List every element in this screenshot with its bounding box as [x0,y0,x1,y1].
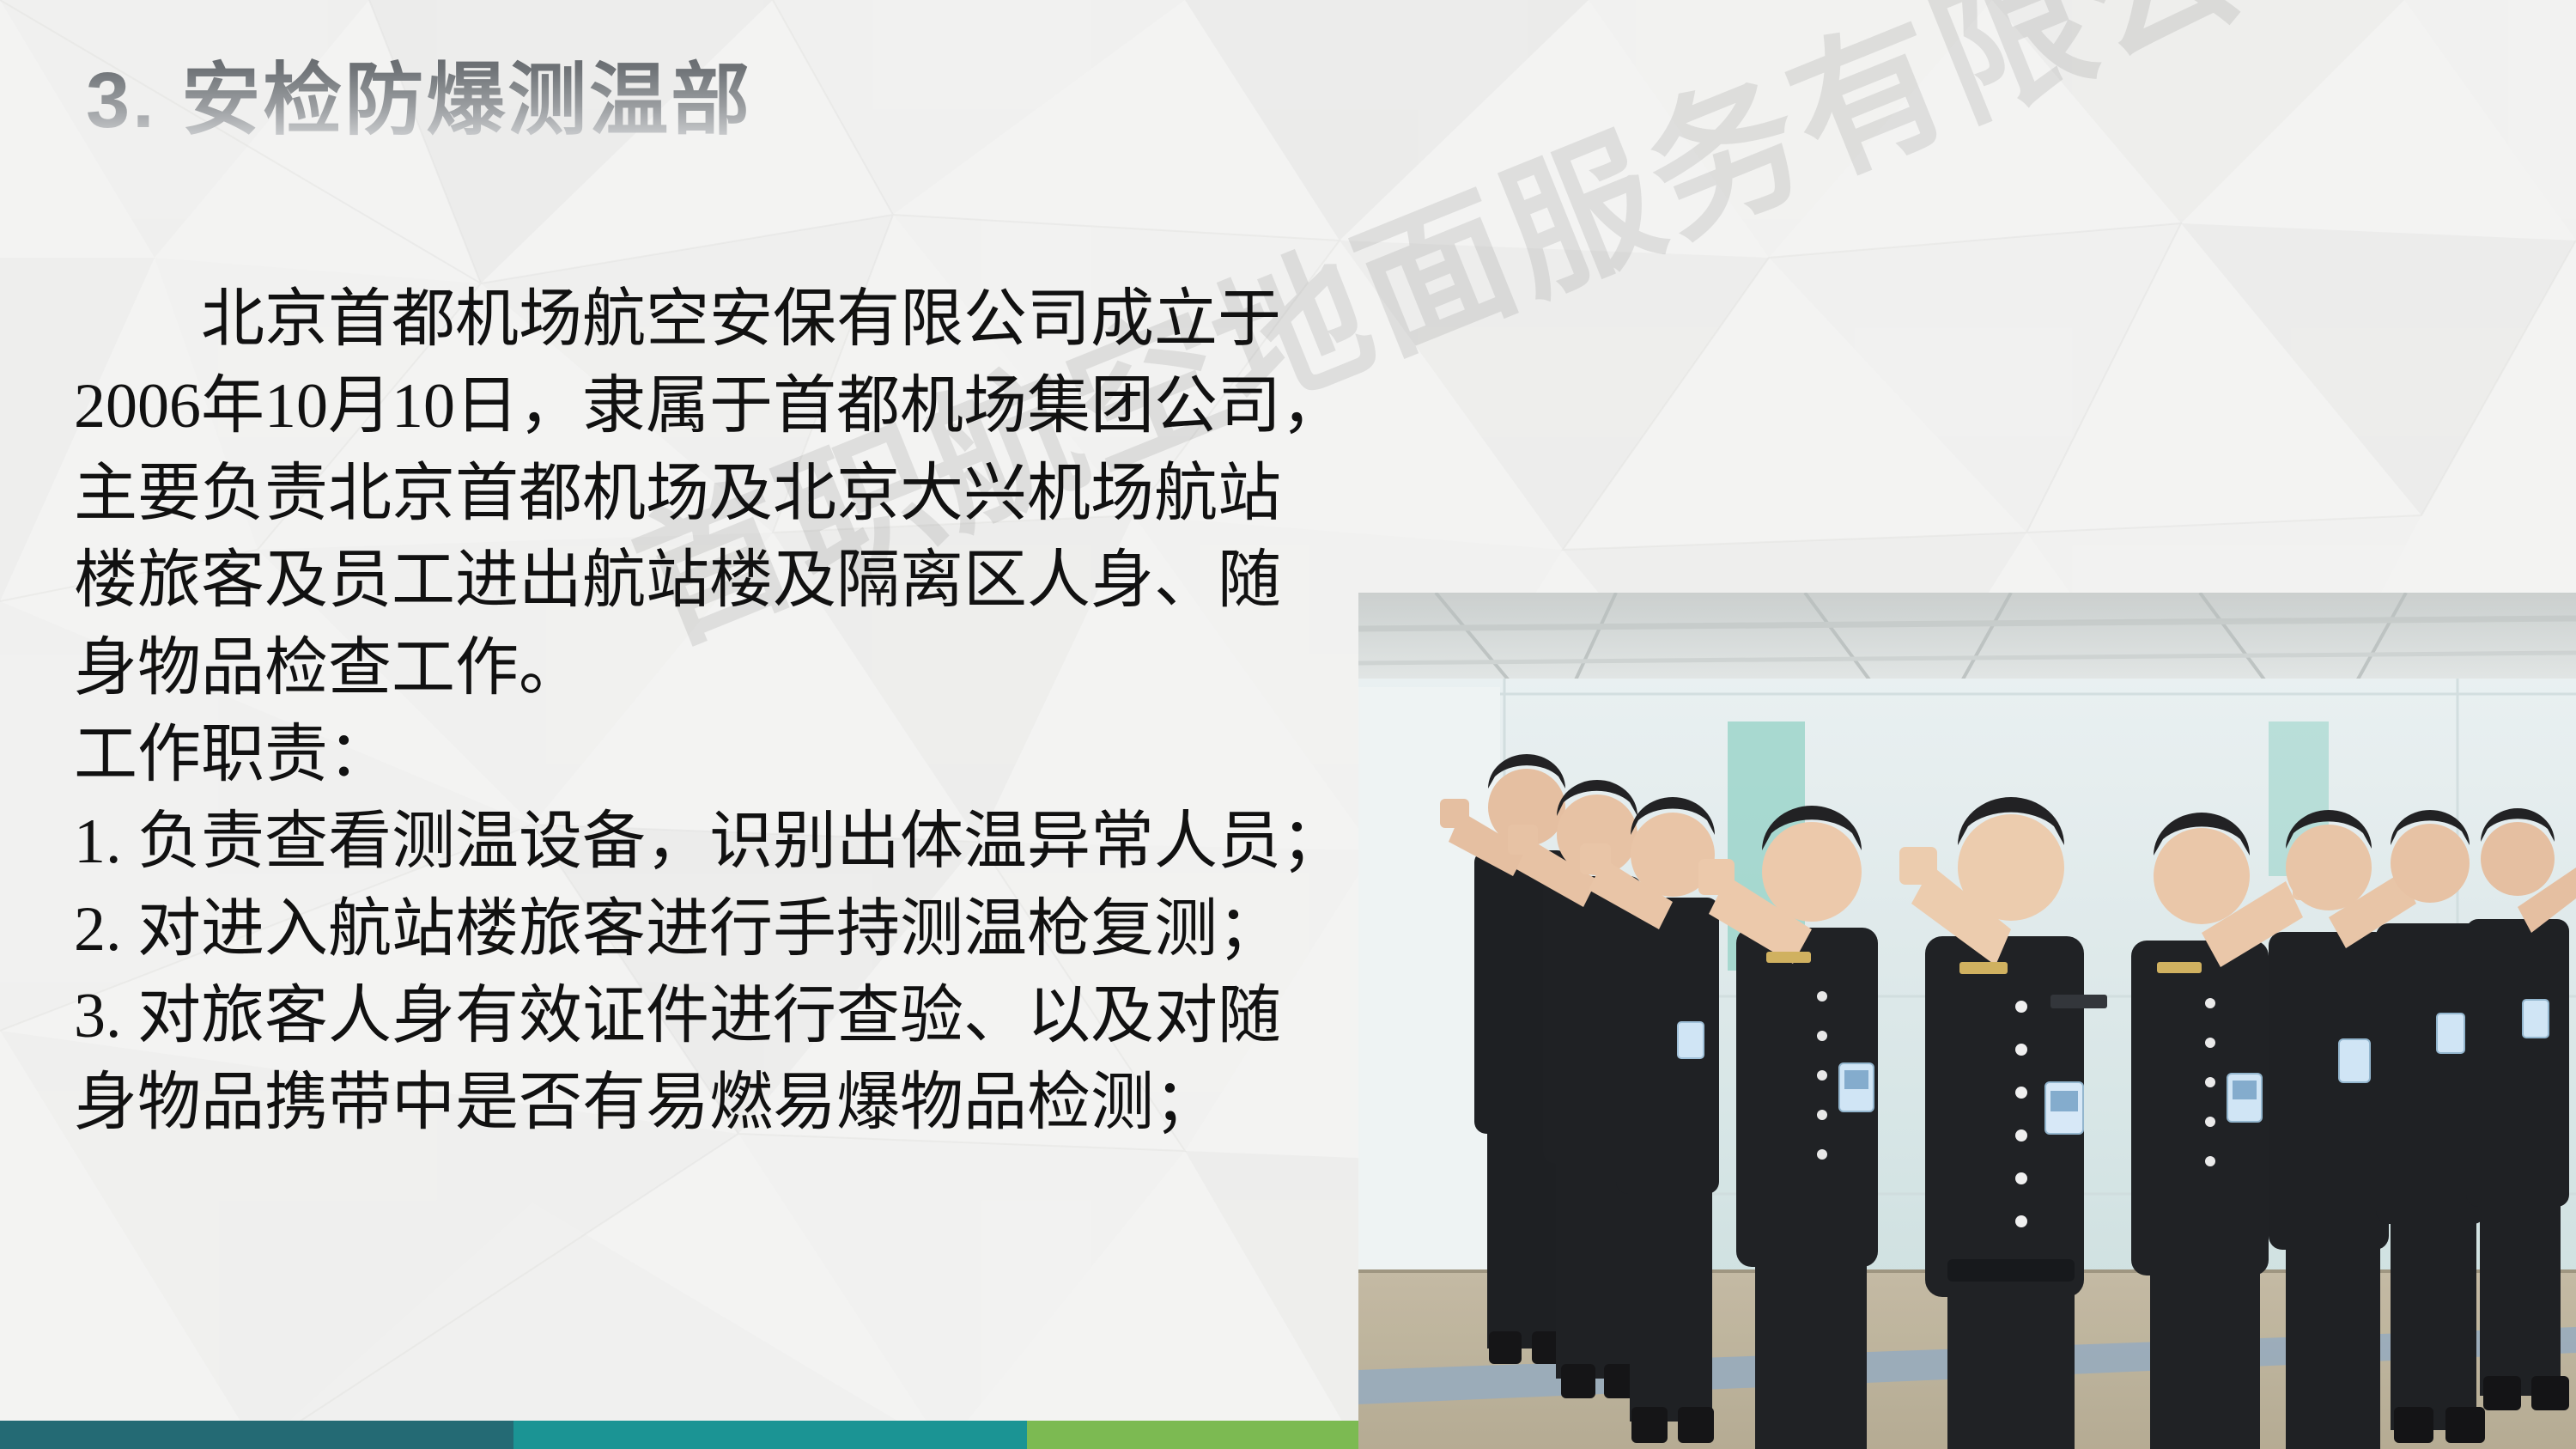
slide-canvas: 首职航空地面服务有限公司 3. 安检防爆测温部 北京首都机场航空安保有限公司成立… [0,0,2576,1449]
body-text-block: 北京首都机场航空安保有限公司成立于 2006年10月10日，隶属于首都机场集团公… [74,277,1336,1148]
accent-bar-green [1027,1421,1358,1449]
paragraph-line-text: 北京首都机场航空安保有限公司成立于 [201,284,1281,355]
bottom-accent-bars [0,1421,1358,1449]
duty-line: 身物品携带中是否有易燃易爆物品检测； [74,1060,1336,1147]
paragraph-line: 身物品检查工作。 [74,625,1336,712]
paragraph-line: 北京首都机场航空安保有限公司成立于 [74,277,1336,363]
paragraph-line: 楼旅客及员工进出航站楼及隔离区人身、随 [74,538,1336,624]
paragraph-line: 主要负责北京首都机场及北京大兴机场航站 [74,451,1336,538]
accent-bar-teal-dark [0,1421,513,1449]
page-title: 3. 安检防爆测温部 [86,36,752,150]
team-salute-photo [1358,593,2576,1449]
duty-line: 3. 对旅客人身有效证件进行查验、以及对随 [74,973,1336,1060]
paragraph-line: 2006年10月10日，隶属于首都机场集团公司， [74,363,1336,450]
photo-illustration [1358,593,2576,1449]
accent-bar-teal [513,1421,1027,1449]
duty-line: 1. 负责查看测温设备，识别出体温异常人员； [74,799,1336,886]
duties-heading: 工作职责： [74,712,1336,799]
duty-line: 2. 对进入航站楼旅客进行手持测温枪复测； [74,886,1336,973]
